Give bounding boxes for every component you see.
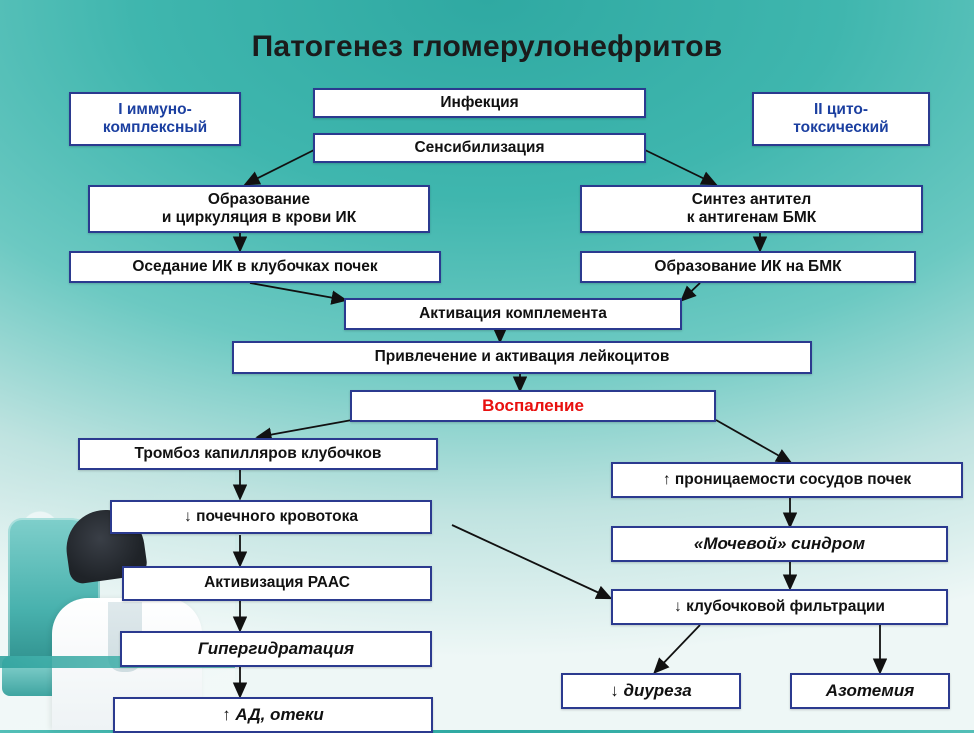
node-left-branch-label[interactable]: I иммуно- комплексный	[69, 92, 241, 146]
page-title: Патогенез гломерулонефритов	[0, 30, 974, 64]
node-antibody-synthesis[interactable]: Синтез антител к антигенам БМК	[580, 185, 923, 233]
node-ic-formation[interactable]: Образование и циркуляция в крови ИК	[88, 185, 430, 233]
node-ic-on-bmk[interactable]: Образование ИК на БМК	[580, 251, 916, 283]
node-right-branch-label[interactable]: II цито- токсический	[752, 92, 930, 146]
node-leukocyte-recruitment[interactable]: Привлечение и активация лейкоцитов	[232, 341, 812, 374]
node-hyperhydration[interactable]: Гипергидратация	[120, 631, 432, 667]
node-inflammation[interactable]: Воспаление	[350, 390, 716, 422]
node-sensitization[interactable]: Сенсибилизация	[313, 133, 646, 163]
node-diuresis[interactable]: ↓ диуреза	[561, 673, 741, 709]
node-complement-activation[interactable]: Активация комплемента	[344, 298, 682, 330]
node-glomerular-filtration[interactable]: ↓ клубочковой фильтрации	[611, 589, 948, 625]
node-renal-blood-flow[interactable]: ↓ почечного кровотока	[110, 500, 432, 534]
node-bp-edema[interactable]: ↑ АД, отеки	[113, 697, 433, 733]
node-raas-activation[interactable]: Активизация РААС	[122, 566, 432, 601]
node-ic-deposition[interactable]: Оседание ИК в клубочках почек	[69, 251, 441, 283]
dental-chair-shape	[8, 518, 100, 668]
node-azotemia[interactable]: Азотемия	[790, 673, 950, 709]
node-vessel-permeability[interactable]: ↑ проницаемости сосудов почек	[611, 462, 963, 498]
node-thrombosis[interactable]: Тромбоз капилляров клубочков	[78, 438, 438, 470]
node-urinary-syndrome[interactable]: «Мочевой» синдром	[611, 526, 948, 562]
node-infection[interactable]: Инфекция	[313, 88, 646, 118]
